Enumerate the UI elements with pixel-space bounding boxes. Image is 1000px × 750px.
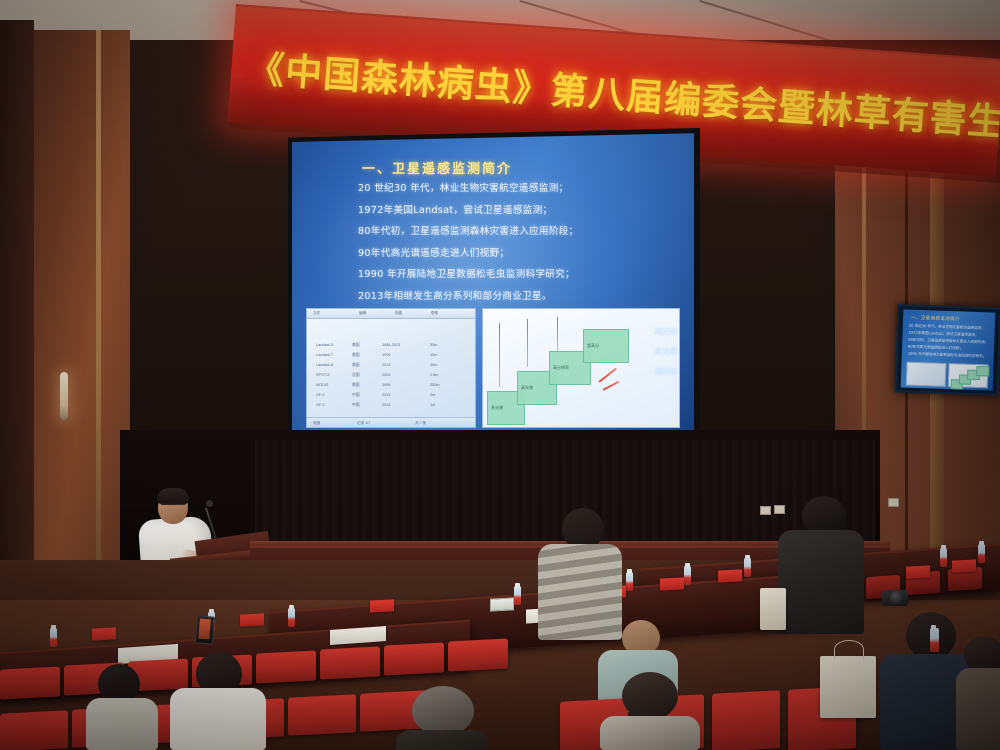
torso (600, 716, 700, 750)
slide-bullet: 1990 年开展陆地卫星数据松毛虫监测科学研究； (358, 270, 678, 280)
water-bottle (288, 608, 295, 627)
tote-bag (760, 588, 786, 630)
table-cell: 中国 (352, 403, 372, 408)
table-cell: 2014 (382, 403, 420, 408)
water-bottle (684, 566, 691, 585)
table-cell: MODIS (316, 383, 342, 388)
table-row: SPOT-5 法国 2002 2.5m (316, 373, 438, 378)
table-cell: GF-1 (316, 393, 342, 398)
chart-arrow (598, 368, 617, 383)
table-cell: 1m (430, 403, 435, 408)
chart-trace (499, 323, 500, 387)
water-bottle (50, 628, 57, 647)
presenter-hair (157, 488, 189, 504)
toolbar-label: 文件 (313, 311, 320, 316)
table-cell: 中国 (352, 393, 372, 398)
slide-bullet: 90年代高光谱遥感走进人们视野； (358, 249, 678, 259)
table-cell: 1984-2013 (382, 343, 420, 348)
torso (778, 530, 864, 634)
tote-bag (820, 656, 876, 718)
left-wall-seam (96, 30, 101, 650)
seat[interactable] (320, 646, 380, 679)
phone-screen (198, 618, 211, 639)
table-cell: Landsat-5 (316, 343, 342, 348)
camera-lens-icon (890, 591, 903, 604)
glasses-icon (161, 503, 185, 511)
table-cell: 法国 (352, 373, 372, 378)
annotation-label: 高时间 (655, 366, 678, 377)
status-label: 记录 1/7 (357, 421, 370, 426)
water-bottle (514, 586, 521, 605)
table-row: Landsat-8 美国 2013 15m (316, 363, 437, 368)
toolbar-label: 帮助 (431, 311, 438, 316)
status-label: 共 7 条 (415, 421, 426, 426)
table-cell: 2.5m (430, 373, 438, 378)
water-bottle (940, 548, 947, 567)
table-cell: Landsat-8 (316, 363, 342, 368)
torso (86, 698, 158, 750)
table-row: Landsat-5 美国 1984-2013 30m (316, 343, 437, 348)
attendee-seated-white-blouse (86, 664, 156, 750)
table-cell: SPOT-5 (316, 373, 342, 378)
table-cell: Landsat-7 (316, 353, 342, 358)
water-bottle (978, 544, 985, 563)
torso (538, 544, 622, 640)
chart-arrow (603, 381, 620, 391)
status-label: 就绪 (313, 421, 320, 426)
table-cell: 15m (430, 363, 437, 368)
table-cell: 2013 (382, 363, 420, 368)
attendee-seated-bun (600, 672, 700, 750)
name-card (718, 569, 742, 582)
seat[interactable] (0, 666, 60, 699)
projection-screen: 一、卫星遥感监测简介 20 世纪30 年代，林业生物灾害航空遥感监测； 1972… (292, 132, 694, 444)
table-row: GF-1 中国 2013 2m (316, 393, 435, 398)
stair-step (976, 366, 989, 376)
slide-annotations: 高空间 高光谱 高时间 (655, 326, 678, 377)
slide-bullet-list: 20 世纪30 年代，林业生物灾害航空遥感监测； 1972年美国Landsat，… (358, 184, 678, 314)
stair-step-label: 高分辨率 (553, 365, 569, 371)
monitor-figures (906, 362, 989, 389)
wall-lamp (60, 372, 68, 420)
seat[interactable] (0, 710, 68, 750)
torso (396, 730, 488, 750)
slide-bullet: 2013年相继发生高分系列和部分商业卫星。 (358, 292, 678, 302)
table-cell: 2m (430, 393, 435, 398)
chart-trace (527, 319, 528, 367)
annotation-label: 高空间 (655, 326, 678, 337)
water-bottle (626, 572, 633, 591)
attendee-striped-shirt (536, 508, 622, 658)
table-cell: 1999 (382, 353, 420, 358)
water-bottle (744, 558, 751, 577)
table-cell: 2013 (382, 393, 420, 398)
water-bottle (930, 628, 939, 652)
table-row: GF-2 中国 2014 1m (316, 403, 435, 408)
table-cell: 250m (430, 383, 440, 388)
table-row: Landsat-7 美国 1999 15m (316, 353, 437, 358)
attendee-standing-dark-shirt (778, 496, 864, 652)
table-toolbar: 文件 编辑 视图 帮助 (307, 309, 475, 319)
mobile-phone[interactable] (195, 615, 215, 644)
wall-outlet (888, 498, 899, 507)
slide-title: 一、卫星遥感监测简介 (362, 158, 512, 177)
side-monitor-screen: 一、卫星遥感监测简介 20 世纪30 年代，林业生物灾害航空遥感监测； 1972… (901, 309, 996, 390)
seat[interactable] (712, 690, 780, 750)
microphone-icon (206, 500, 213, 507)
name-card (370, 599, 394, 612)
stair-step-label: 高光谱 (521, 385, 533, 391)
torso (956, 668, 1000, 750)
stair-step-label: 多光谱 (491, 405, 503, 411)
toolbar-label: 编辑 (359, 311, 366, 316)
attendee-seated-navy (956, 636, 1000, 750)
monitor-bullet: 90年代高光谱遥感走进人们视野； (908, 345, 963, 352)
table-status-bar: 就绪 记录 1/7 共 7 条 (307, 417, 475, 427)
name-card (906, 565, 930, 578)
stair-step-label: 超高分 (587, 343, 599, 349)
side-monitor: 一、卫星遥感监测简介 20 世纪30 年代，林业生物灾害航空遥感监测； 1972… (894, 304, 1000, 396)
name-card (660, 577, 684, 590)
annotation-label: 高光谱 (655, 346, 678, 357)
name-card (92, 627, 116, 640)
monitor-slide-title: 一、卫星遥感监测简介 (911, 315, 960, 323)
name-card (240, 613, 264, 626)
seat[interactable] (448, 638, 508, 671)
monitor-table-figure (906, 362, 947, 387)
satellite-table-figure: 文件 编辑 视图 帮助 Landsat-5 美国 1984-2013 30m L… (306, 308, 476, 428)
attendee-seated-grey-hair (396, 686, 488, 750)
slide-bullet: 20 世纪30 年代，林业生物灾害航空遥感监测； (358, 184, 678, 194)
seat[interactable] (288, 694, 356, 736)
toolbar-label: 视图 (395, 311, 402, 316)
name-card (490, 597, 514, 611)
table-cell: 美国 (352, 383, 372, 388)
table-cell: 美国 (352, 353, 372, 358)
slide-bullet: 1972年美国Landsat，尝试卫星遥感监测； (358, 206, 678, 216)
table-cell: 15m (430, 353, 437, 358)
tote-bag-handle (834, 640, 864, 659)
slide-bullet: 80年代初，卫星遥感监测森林灾害进入应用阶段； (358, 227, 678, 237)
seat[interactable] (384, 642, 444, 675)
table-cell: 1999 (382, 383, 420, 388)
slide-figure-group: 文件 编辑 视图 帮助 Landsat-5 美国 1984-2013 30m L… (306, 308, 680, 426)
table-cell: 30m (430, 343, 437, 348)
table-cell: 美国 (352, 363, 372, 368)
torso (170, 688, 266, 750)
monitor-bullet: 1990 年开展陆地卫星数据松毛虫监测科学研究； (908, 352, 987, 360)
monitor-bullet: 1972年美国Landsat，尝试卫星遥感监测； (908, 331, 978, 338)
name-card (952, 559, 976, 572)
table-cell: 美国 (352, 343, 372, 348)
head (412, 686, 474, 736)
auditorium-photo: 《中国森林病虫》第八届编委会暨林草有害生物防控学术研讨会 一、卫星遥感监测简介 … (0, 0, 1000, 750)
table-cell: 2002 (382, 373, 420, 378)
monitor-stair-figure (948, 363, 989, 388)
resolution-staircase-figure: 多光谱 高光谱 高分辨率 超高分 (482, 308, 680, 428)
attendee-photographer-phone (170, 646, 266, 750)
chart-trace (557, 317, 558, 351)
table-row: MODIS 美国 1999 250m (316, 383, 440, 388)
wall-outlet (760, 506, 771, 515)
table-cell: GF-2 (316, 403, 342, 408)
head (622, 672, 678, 720)
